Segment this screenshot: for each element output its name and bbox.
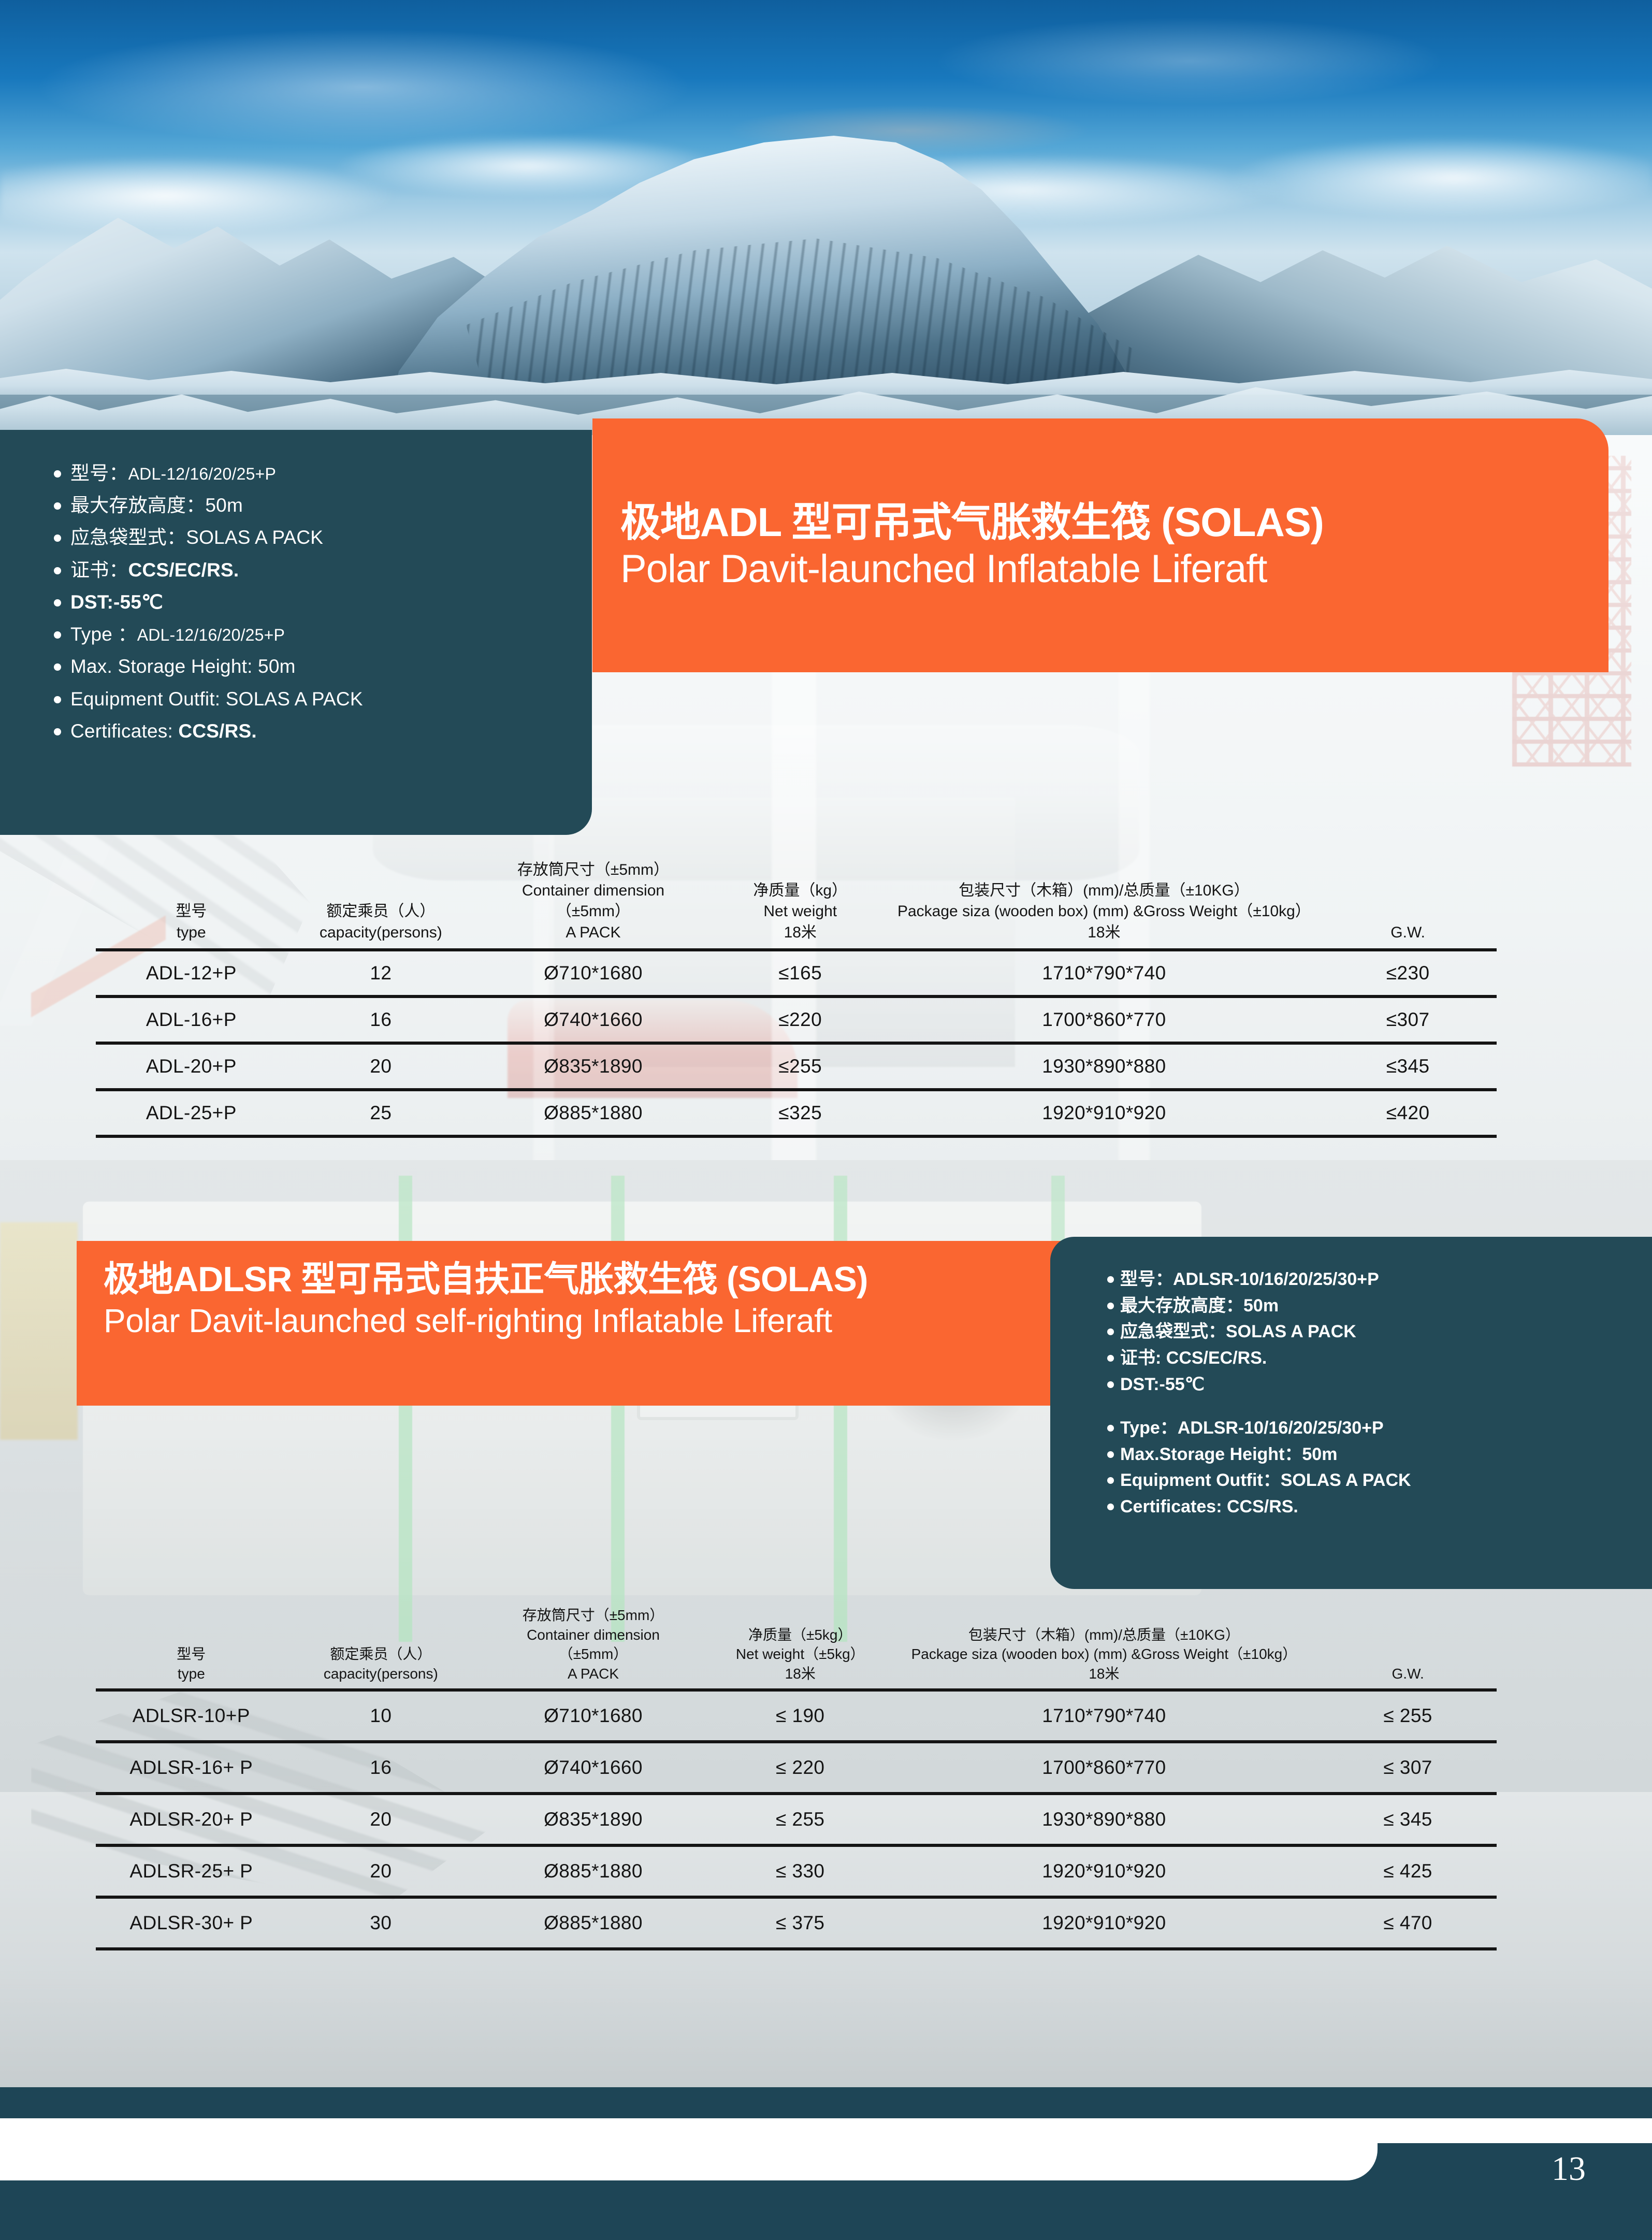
section2-title-en: Polar Davit-launched self-righting Infla… (104, 1301, 1096, 1341)
header-line: 18米 (712, 1664, 889, 1684)
bullet-dot-icon (1107, 1451, 1114, 1458)
section2-spec-list: 型号：ADLSR-10/16/20/25/30+P 最大存放高度：50m 应急袋… (1050, 1267, 1652, 1520)
spec-item: 证书: CCS/EC/RS. (1050, 1346, 1652, 1371)
table-row: ADL-16+P 16 Ø740*1660 ≤220 1700*860*770 … (96, 996, 1497, 1043)
spec-item: Equipment Outfit: SOLAS A PACK (0, 685, 592, 714)
col-header-type: 型号 type (96, 860, 287, 950)
spec-item: Type：ADLSR-10/16/20/25/30+P (1050, 1415, 1652, 1441)
spec-text: Equipment Outfit：SOLAS A PACK (1120, 1468, 1411, 1494)
bullet-dot-icon (1107, 1477, 1114, 1484)
header-line: A PACK (475, 922, 712, 943)
section1-title-cn: 极地ADL 型可吊式气胀救生筏 (SOLAS) (620, 498, 1608, 546)
col-header-type: 型号 type (96, 1606, 287, 1690)
cell-capacity: 20 (287, 1043, 475, 1090)
spec-text: Equipment Outfit: SOLAS A PACK (70, 685, 363, 714)
cell-dimension: Ø740*1660 (475, 996, 712, 1043)
bullet-dot-icon (1107, 1355, 1114, 1362)
header-line: Container dimension (475, 1625, 712, 1645)
page-number: 13 (1552, 2149, 1586, 2189)
cell-package: 1930*890*880 (889, 1043, 1320, 1090)
cell-capacity: 16 (287, 996, 475, 1043)
cell-capacity: 16 (287, 1742, 475, 1794)
cell-net-weight: ≤ 190 (712, 1690, 889, 1742)
bullet-dot-icon (54, 663, 61, 671)
bullet-dot-icon (54, 502, 61, 510)
spec-item: 型号：ADL-12/16/20/25+P (0, 459, 592, 488)
cell-gross-weight: ≤ 307 (1319, 1742, 1497, 1794)
cell-capacity: 30 (287, 1897, 475, 1949)
bullet-dot-icon (1107, 1303, 1114, 1309)
cell-gross-weight: ≤345 (1319, 1043, 1497, 1090)
bullet-dot-icon (1107, 1276, 1114, 1283)
cell-package: 1920*910*920 (889, 1845, 1320, 1897)
spec-text: 应急袋型式：SOLAS A PACK (1120, 1319, 1356, 1345)
table-row: ADL-12+P 12 Ø710*1680 ≤165 1710*790*740 … (96, 950, 1497, 996)
cell-package: 1930*890*880 (889, 1794, 1320, 1845)
header-line: type (96, 1664, 287, 1684)
header-line: Package siza (wooden box) (mm) &Gross We… (889, 901, 1320, 922)
spec-text: 最大存放高度：50m (1120, 1293, 1279, 1319)
spec-item: DST:-55℃ (0, 588, 592, 617)
bullet-dot-icon (54, 534, 61, 542)
spec-text: 证书：CCS/EC/RS. (70, 556, 239, 585)
table1-body: ADL-12+P 12 Ø710*1680 ≤165 1710*790*740 … (96, 950, 1497, 1136)
header-line: 包装尺寸（木箱）(mm)/总质量（±10KG） (889, 1625, 1320, 1645)
section2-spec-table: 型号 type 额定乘员（人） capacity(persons) 存放筒尺寸（… (96, 1606, 1497, 1950)
bullet-dot-icon (54, 728, 61, 735)
header-line: 净质量（±5kg） (712, 1625, 889, 1645)
footer-top-bar (0, 2087, 1652, 2118)
cell-net-weight: ≤220 (712, 996, 889, 1043)
spec-item: 最大存放高度：50m (0, 491, 592, 520)
cell-package: 1700*860*770 (889, 996, 1320, 1043)
spec-item: Certificates: CCS/RS. (1050, 1494, 1652, 1520)
col-header-net-weight: 净质量（±5kg） Net weight（±5kg） 18米 (712, 1606, 889, 1690)
cell-capacity: 12 (287, 950, 475, 996)
table-row: ADLSR-25+ P 20 Ø885*1880 ≤ 330 1920*910*… (96, 1845, 1497, 1897)
table-header-row: 型号 type 额定乘员（人） capacity(persons) 存放筒尺寸（… (96, 860, 1497, 950)
cell-dimension: Ø885*1880 (475, 1897, 712, 1949)
cell-type: ADL-25+P (96, 1090, 287, 1136)
table1-header: 型号 type 额定乘员（人） capacity(persons) 存放筒尺寸（… (96, 860, 1497, 950)
cell-net-weight: ≤ 330 (712, 1845, 889, 1897)
header-line: 额定乘员（人） (287, 1644, 475, 1664)
spec-item: Max.Storage Height：50m (1050, 1442, 1652, 1468)
bullet-dot-icon (1107, 1328, 1114, 1335)
header-line: Container dimension (475, 880, 712, 901)
spec-item: DST:-55℃ (1050, 1372, 1652, 1398)
cell-capacity: 20 (287, 1845, 475, 1897)
header-line: capacity(persons) (287, 922, 475, 943)
spec-item: 证书：CCS/EC/RS. (0, 556, 592, 585)
col-header-capacity: 额定乘员（人） capacity(persons) (287, 1606, 475, 1690)
cell-dimension: Ø885*1880 (475, 1845, 712, 1897)
cell-net-weight: ≤165 (712, 950, 889, 996)
spec-text: 应急袋型式：SOLAS A PACK (70, 523, 323, 552)
table-header-row: 型号 type 额定乘员（人） capacity(persons) 存放筒尺寸（… (96, 1606, 1497, 1690)
section1-spec-panel: 型号：ADL-12/16/20/25+P 最大存放高度：50m 应急袋型式：SO… (0, 430, 592, 835)
spec-item: 型号：ADLSR-10/16/20/25/30+P (1050, 1267, 1652, 1293)
cell-capacity: 10 (287, 1690, 475, 1742)
footer-rounded-notch (0, 2143, 1378, 2180)
table2-header: 型号 type 额定乘员（人） capacity(persons) 存放筒尺寸（… (96, 1606, 1497, 1690)
cell-type: ADL-12+P (96, 950, 287, 996)
col-header-capacity: 额定乘员（人） capacity(persons) (287, 860, 475, 950)
cell-type: ADL-16+P (96, 996, 287, 1043)
cell-type: ADLSR-10+P (96, 1690, 287, 1742)
table-row: ADL-25+P 25 Ø885*1880 ≤325 1920*910*920 … (96, 1090, 1497, 1136)
spec-text: Max.Storage Height：50m (1120, 1442, 1337, 1468)
header-line: 存放筒尺寸（±5mm） (475, 1606, 712, 1625)
cell-dimension: Ø835*1890 (475, 1794, 712, 1845)
spec-text: 型号：ADLSR-10/16/20/25/30+P (1120, 1267, 1379, 1293)
spec-text: Type ：ADL-12/16/20/25+P (70, 620, 285, 649)
cell-package: 1920*910*920 (889, 1090, 1320, 1136)
cell-net-weight: ≤ 375 (712, 1897, 889, 1949)
header-line: Net weight（±5kg） (712, 1644, 889, 1664)
cell-net-weight: ≤ 255 (712, 1794, 889, 1845)
cell-gross-weight: ≤307 (1319, 996, 1497, 1043)
spec-text: DST:-55℃ (70, 588, 163, 617)
spec-item: 应急袋型式：SOLAS A PACK (1050, 1319, 1652, 1345)
section2-title-cn: 极地ADLSR 型可吊式自扶正气胀救生筏 (SOLAS) (104, 1259, 1096, 1301)
header-line: Net weight (712, 901, 889, 922)
spec-text: Certificates: CCS/RS. (70, 717, 257, 746)
header-line: 包装尺寸（木箱）(mm)/总质量（±10KG） (889, 880, 1320, 901)
cell-type: ADL-20+P (96, 1043, 287, 1090)
header-line: 18米 (712, 922, 889, 943)
spec-item: 最大存放高度：50m (1050, 1293, 1652, 1319)
col-header-gross-weight: G.W. (1319, 1606, 1497, 1690)
footer-white-gap (0, 2118, 1652, 2143)
col-header-net-weight: 净质量（kg） Net weight 18米 (712, 860, 889, 950)
cell-dimension: Ø740*1660 (475, 1742, 712, 1794)
yellow-marker (0, 1222, 78, 1440)
spec-text: Type：ADLSR-10/16/20/25/30+P (1120, 1415, 1384, 1441)
bullet-dot-icon (54, 631, 61, 639)
section1-title-en: Polar Davit-launched Inflatable Liferaft (620, 546, 1608, 592)
cell-package: 1920*910*920 (889, 1897, 1320, 1949)
cell-package: 1710*790*740 (889, 1690, 1320, 1742)
cell-net-weight: ≤ 220 (712, 1742, 889, 1794)
cell-net-weight: ≤255 (712, 1043, 889, 1090)
header-line: 额定乘员（人） (287, 901, 475, 922)
spec-item: Certificates: CCS/RS. (0, 717, 592, 746)
table-row: ADLSR-16+ P 16 Ø740*1660 ≤ 220 1700*860*… (96, 1742, 1497, 1794)
hero-glacier-image (0, 0, 1652, 435)
col-header-package-size: 包装尺寸（木箱）(mm)/总质量（±10KG） Package siza (wo… (889, 1606, 1320, 1690)
col-header-container-dimension: 存放筒尺寸（±5mm） Container dimension （±5mm） A… (475, 860, 712, 950)
cell-type: ADLSR-16+ P (96, 1742, 287, 1794)
cell-dimension: Ø835*1890 (475, 1043, 712, 1090)
header-line: G.W. (1319, 1664, 1497, 1684)
table2-body: ADLSR-10+P 10 Ø710*1680 ≤ 190 1710*790*7… (96, 1690, 1497, 1949)
cell-type: ADLSR-20+ P (96, 1794, 287, 1845)
cell-type: ADLSR-30+ P (96, 1897, 287, 1949)
cell-gross-weight: ≤ 425 (1319, 1845, 1497, 1897)
spec-item: 应急袋型式：SOLAS A PACK (0, 523, 592, 552)
cell-capacity: 20 (287, 1794, 475, 1845)
spec-text: 证书: CCS/EC/RS. (1120, 1346, 1267, 1371)
section2-spec-panel: 型号：ADLSR-10/16/20/25/30+P 最大存放高度：50m 应急袋… (1050, 1237, 1652, 1589)
cell-net-weight: ≤325 (712, 1090, 889, 1136)
section1-title-banner: 极地ADL 型可吊式气胀救生筏 (SOLAS) Polar Davit-laun… (592, 418, 1608, 672)
cell-gross-weight: ≤230 (1319, 950, 1497, 996)
cell-package: 1700*860*770 (889, 1742, 1320, 1794)
cell-gross-weight: ≤ 255 (1319, 1690, 1497, 1742)
cell-gross-weight: ≤ 470 (1319, 1897, 1497, 1949)
spec-text: DST:-55℃ (1120, 1372, 1205, 1398)
header-line: 型号 (96, 901, 287, 922)
table-row: ADLSR-20+ P 20 Ø835*1890 ≤ 255 1930*890*… (96, 1794, 1497, 1845)
spec-item: Max. Storage Height: 50m (0, 652, 592, 681)
spec-text: Max. Storage Height: 50m (70, 652, 296, 681)
cell-dimension: Ø710*1680 (475, 1690, 712, 1742)
header-line: 存放筒尺寸（±5mm） (475, 860, 712, 880)
spec-spacer (1050, 1398, 1652, 1415)
section1-spec-list: 型号：ADL-12/16/20/25+P 最大存放高度：50m 应急袋型式：SO… (0, 459, 592, 746)
brochure-page: 型号：ADL-12/16/20/25+P 最大存放高度：50m 应急袋型式：SO… (0, 0, 1652, 2240)
header-line: 18米 (889, 922, 1320, 943)
cell-type: ADLSR-25+ P (96, 1845, 287, 1897)
header-line: type (96, 922, 287, 943)
spec-text: Certificates: CCS/RS. (1120, 1494, 1298, 1520)
cell-package: 1710*790*740 (889, 950, 1320, 996)
header-line: （±5mm） (475, 901, 712, 922)
col-header-container-dimension: 存放筒尺寸（±5mm） Container dimension （±5mm） A… (475, 1606, 712, 1690)
header-line: A PACK (475, 1664, 712, 1684)
bullet-dot-icon (54, 696, 61, 703)
cell-gross-weight: ≤ 345 (1319, 1794, 1497, 1845)
table-row: ADLSR-30+ P 30 Ø885*1880 ≤ 375 1920*910*… (96, 1897, 1497, 1949)
bullet-dot-icon (54, 567, 61, 574)
header-line: 净质量（kg） (712, 880, 889, 901)
bullet-dot-icon (1107, 1425, 1114, 1432)
spec-text: 最大存放高度：50m (70, 491, 243, 520)
section2-title-banner: 极地ADLSR 型可吊式自扶正气胀救生筏 (SOLAS) Polar Davit… (77, 1241, 1096, 1406)
spec-item: Equipment Outfit：SOLAS A PACK (1050, 1468, 1652, 1494)
header-line: capacity(persons) (287, 1664, 475, 1684)
bullet-dot-icon (1107, 1504, 1114, 1510)
bullet-dot-icon (1107, 1381, 1114, 1388)
header-line: 型号 (96, 1644, 287, 1664)
bullet-dot-icon (54, 470, 61, 478)
spec-text: 型号：ADL-12/16/20/25+P (70, 459, 276, 488)
header-line: 18米 (889, 1664, 1320, 1684)
table-row: ADL-20+P 20 Ø835*1890 ≤255 1930*890*880 … (96, 1043, 1497, 1090)
table-row: ADLSR-10+P 10 Ø710*1680 ≤ 190 1710*790*7… (96, 1690, 1497, 1742)
col-header-package-size: 包装尺寸（木箱）(mm)/总质量（±10KG） Package siza (wo… (889, 860, 1320, 950)
cell-dimension: Ø710*1680 (475, 950, 712, 996)
cell-dimension: Ø885*1880 (475, 1090, 712, 1136)
header-line: G.W. (1319, 922, 1497, 943)
header-line: （±5mm） (475, 1644, 712, 1664)
section1-spec-table: 型号 type 额定乘员（人） capacity(persons) 存放筒尺寸（… (96, 860, 1497, 1138)
bullet-dot-icon (54, 599, 61, 606)
cell-capacity: 25 (287, 1090, 475, 1136)
spec-item: Type ：ADL-12/16/20/25+P (0, 620, 592, 649)
header-line: Package siza (wooden box) (mm) &Gross We… (889, 1644, 1320, 1664)
cell-gross-weight: ≤420 (1319, 1090, 1497, 1136)
col-header-gross-weight: G.W. (1319, 860, 1497, 950)
